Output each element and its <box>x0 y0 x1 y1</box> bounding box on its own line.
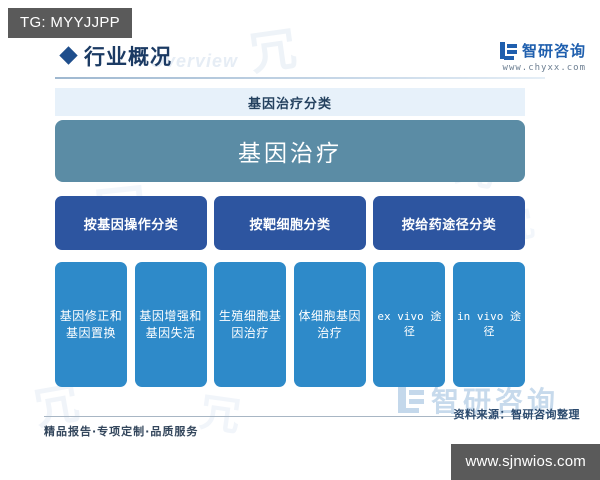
diagram-level3-label: 体细胞基因治疗 <box>298 308 362 340</box>
url-watermark-badge: www.sjnwios.com <box>451 444 600 480</box>
diagram-level2-label: 按靶细胞分类 <box>249 214 330 233</box>
brand-url: www.chyxx.com <box>500 63 586 73</box>
diagram-level2-row: 按基因操作分类 按靶细胞分类 按给药途径分类 <box>55 196 525 250</box>
diagram-level3-label: 生殖细胞基因治疗 <box>218 308 282 340</box>
diagram-level2-label: 按给药途径分类 <box>402 214 497 233</box>
diagram-level3-node: 基因修正和基因置换 <box>55 262 127 387</box>
diagram-root-label: 基因治疗 <box>238 134 342 168</box>
diagram-level2-node: 按靶细胞分类 <box>214 196 366 250</box>
brand-name: 智研咨询 <box>522 40 586 61</box>
background-swoosh-icon: 冗 <box>197 392 242 437</box>
tg-badge: TG: MYYJJPP <box>8 8 132 38</box>
brand-logo: 智研咨询 www.chyxx.com <box>500 40 586 73</box>
diagram-level2-label: 按基因操作分类 <box>84 214 179 233</box>
diagram-level3-label: ex vivo 途径 <box>377 310 441 340</box>
diagram-level2-node: 按给药途径分类 <box>373 196 525 250</box>
diagram-level3-label: 基因增强和基因失活 <box>139 308 203 340</box>
diagram-level3-node: 基因增强和基因失活 <box>135 262 207 387</box>
footer-tagline: 精品报告·专项定制·品质服务 <box>44 423 198 439</box>
diamond-icon <box>59 46 77 64</box>
footer-source: 资料来源：智研咨询整理 <box>454 406 581 422</box>
diagram-level3-label: 基因修正和基因置换 <box>59 308 123 340</box>
diagram-level3-label: in vivo 途径 <box>457 310 521 340</box>
diagram-level2-node: 按基因操作分类 <box>55 196 207 250</box>
slide-canvas: 冗 冗 冗 冗 冗 冗 Overview 行业概况 智研咨询 www.chyxx… <box>0 0 600 480</box>
zhiyan-logo-icon <box>500 42 517 59</box>
page-title: 行业概况 <box>84 41 172 71</box>
diagram-level3-node: ex vivo 途径 <box>373 262 445 387</box>
diagram-root-node: 基因治疗 <box>55 120 525 182</box>
chart-title-bar: 基因治疗分类 <box>55 88 525 116</box>
diagram-level3-node: 体细胞基因治疗 <box>294 262 366 387</box>
diagram-level3-node: 生殖细胞基因治疗 <box>214 262 286 387</box>
diagram-level3-row: 基因修正和基因置换 基因增强和基因失活 生殖细胞基因治疗 体细胞基因治疗 ex … <box>55 262 525 387</box>
chart-title: 基因治疗分类 <box>248 93 332 112</box>
header-divider <box>55 77 545 79</box>
diagram-level3-node: in vivo 途径 <box>453 262 525 387</box>
zhiyan-logo-icon <box>398 387 424 413</box>
